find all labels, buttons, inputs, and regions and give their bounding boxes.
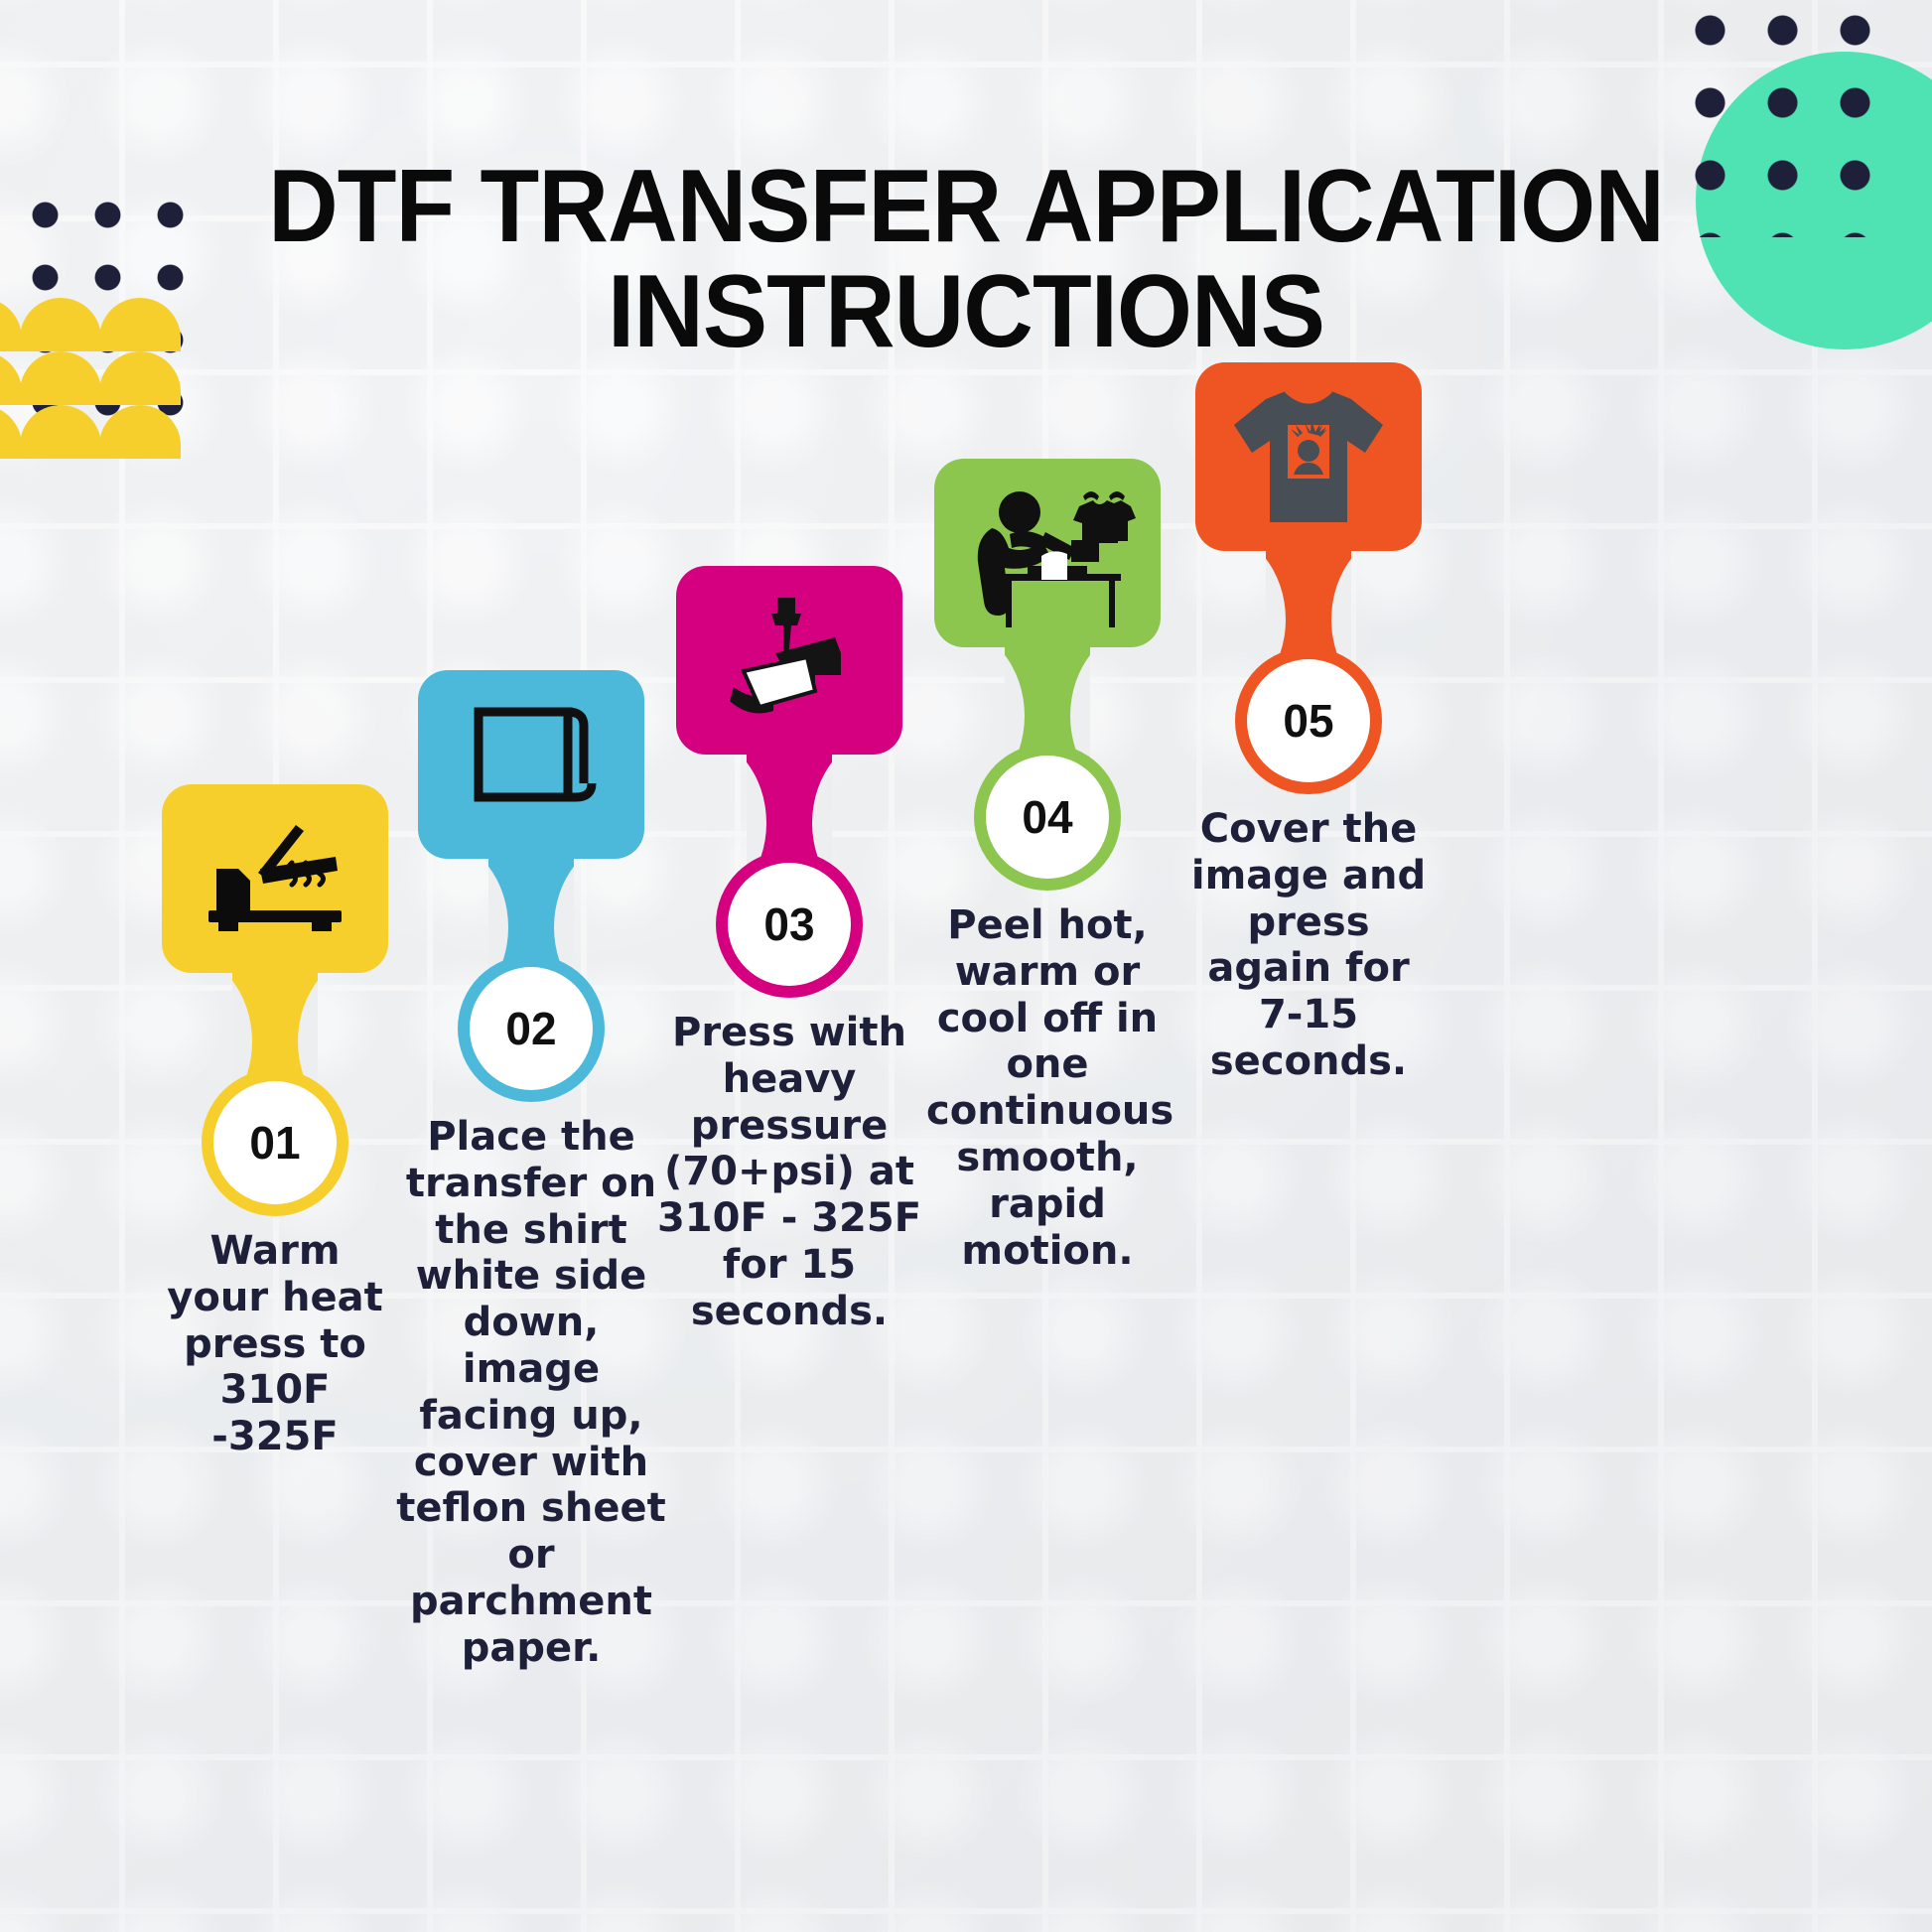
step-description-01: Warm your heat press to 310F -325F <box>126 1228 424 1460</box>
step-item-03: 03 Press with heavy pressure (70+psi) at… <box>640 566 938 1335</box>
step-number-04: 04 <box>1022 790 1072 844</box>
step-number-03: 03 <box>763 897 814 951</box>
step-number-badge-03: 03 <box>728 863 851 986</box>
step-item-05: 05 Cover the image and press again for 7… <box>1160 362 1457 1085</box>
step-item-01: 01 Warm your heat press to 310F -325F <box>126 784 424 1460</box>
step-card-01[interactable] <box>162 784 388 973</box>
page-title-line-2: INSTRUCTIONS <box>58 259 1873 364</box>
step-description-02: Place the transfer on the shirt white si… <box>382 1114 680 1672</box>
transfer-sheet-icon <box>465 702 598 827</box>
press-machine-icon <box>716 596 863 725</box>
step-description-04: Peel hot, warm or cool off in one contin… <box>898 902 1196 1274</box>
step-description-05: Cover the image and press again for 7-15… <box>1160 806 1457 1085</box>
step-number-05: 05 <box>1283 694 1333 748</box>
step-number-02: 02 <box>505 1002 556 1055</box>
step-number-01: 01 <box>249 1116 300 1170</box>
page-title: DTF TRANSFER APPLICATION INSTRUCTIONS <box>58 154 1873 364</box>
step-pin-04: 04 <box>898 459 1196 879</box>
step-card-03[interactable] <box>676 566 902 755</box>
step-card-04[interactable] <box>934 459 1161 647</box>
step-pin-01: 01 <box>126 784 424 1204</box>
step-number-badge-02: 02 <box>470 967 593 1090</box>
step-card-02[interactable] <box>418 670 644 859</box>
step-item-02: 02 Place the transfer on the shirt white… <box>382 670 680 1672</box>
worker-pressing-shirt-icon <box>958 479 1137 627</box>
step-description-03: Press with heavy pressure (70+psi) at 31… <box>640 1010 938 1335</box>
step-number-badge-04: 04 <box>986 756 1109 879</box>
step-item-04: 04 Peel hot, warm or cool off in one con… <box>898 459 1196 1274</box>
step-pin-05: 05 <box>1160 362 1457 782</box>
printed-tshirt-icon <box>1226 381 1391 532</box>
step-number-badge-05: 05 <box>1247 659 1370 782</box>
heat-press-icon <box>201 823 349 934</box>
step-number-badge-01: 01 <box>213 1081 337 1204</box>
step-card-05[interactable] <box>1195 362 1422 551</box>
page-title-line-1: DTF TRANSFER APPLICATION <box>58 154 1873 259</box>
step-card-03-wrap: 03 <box>640 566 938 986</box>
step-pin-02: 02 <box>382 670 680 1090</box>
